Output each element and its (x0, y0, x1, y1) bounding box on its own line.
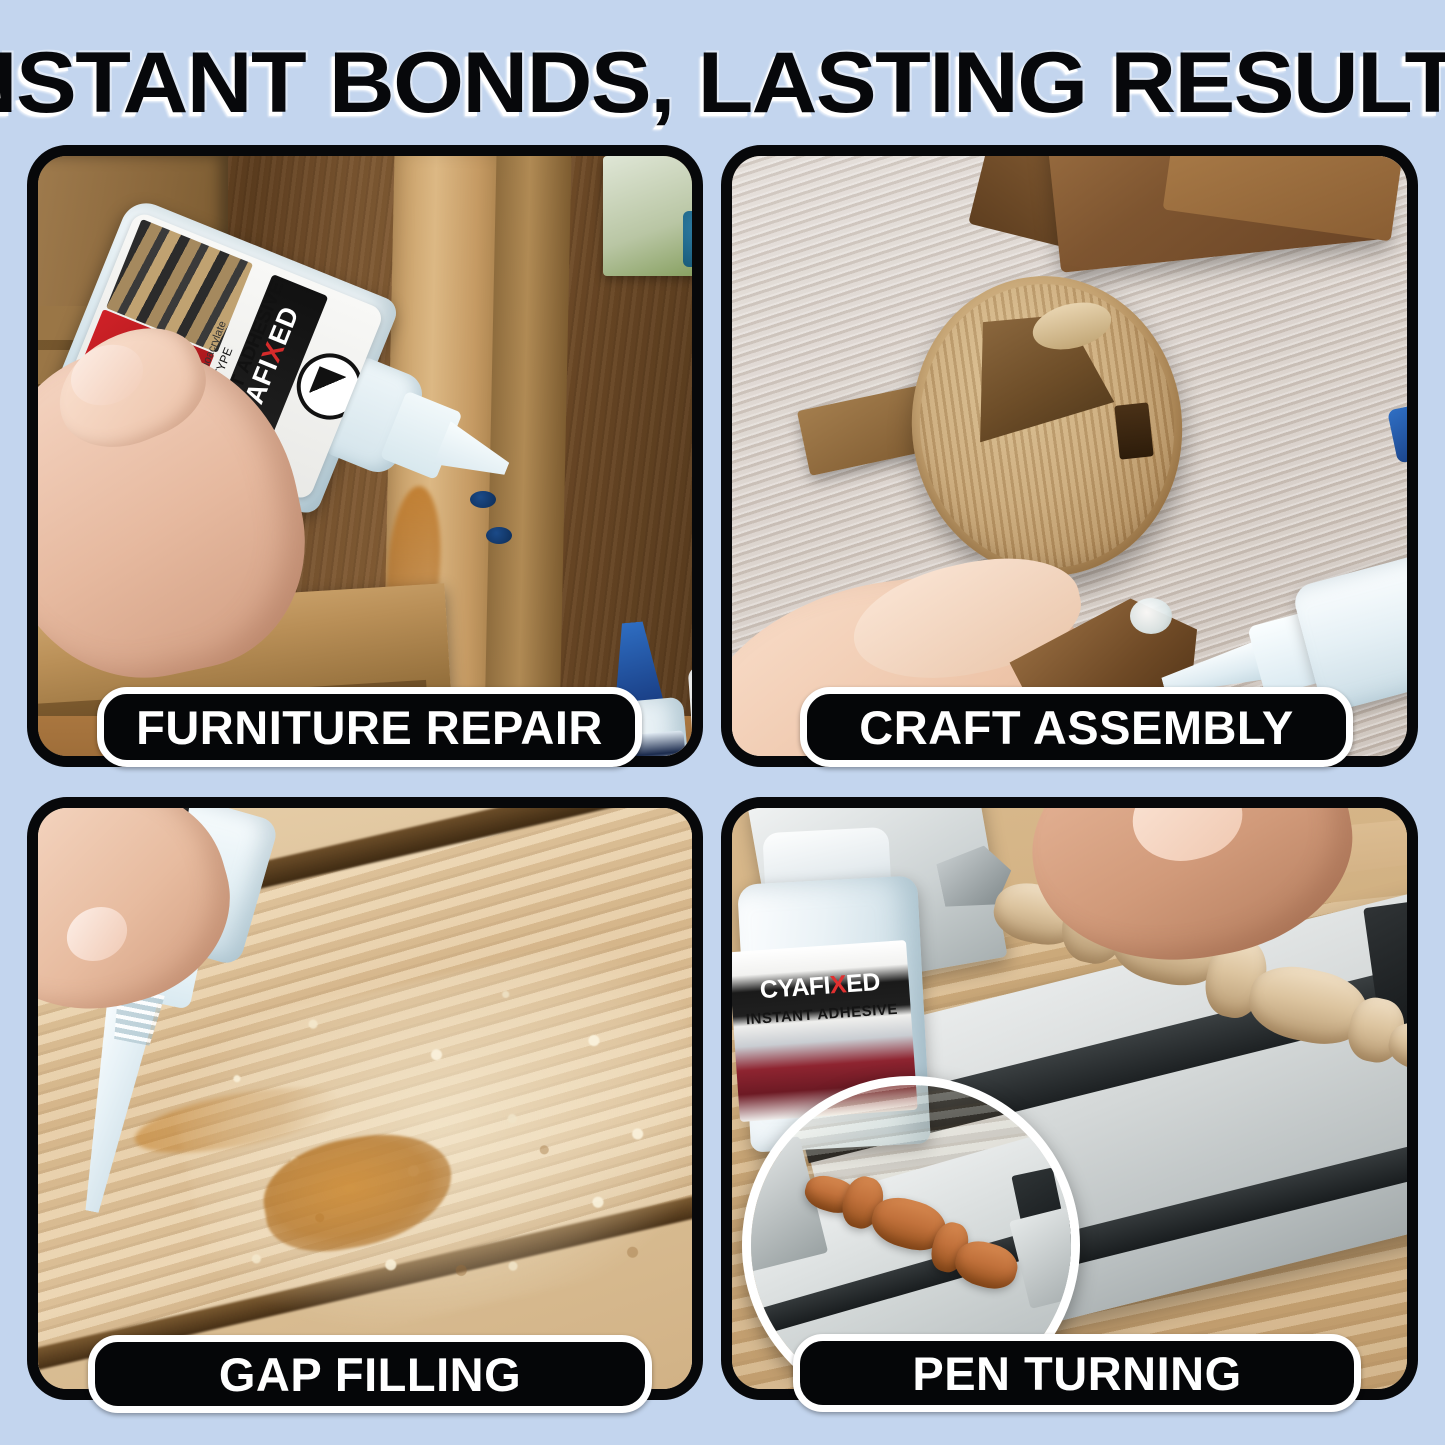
badge-text: CRAFT ASSEMBLY (859, 700, 1293, 755)
badge-text: PEN TURNING (912, 1346, 1241, 1401)
background-blue-cap (683, 211, 692, 267)
label-badge-pen-turning: PEN TURNING (793, 1334, 1361, 1412)
background-box (603, 156, 692, 276)
label-badge-furniture-repair: FURNITURE REPAIR (97, 687, 642, 767)
headline-text: INSTANT BONDS, LASTING RESULTS (0, 37, 1445, 129)
badge-text: GAP FILLING (219, 1347, 521, 1402)
badge-text: FURNITURE REPAIR (136, 700, 603, 755)
photo-furniture-repair: CYAFIXED CYAFIXED THIN (2 CPS) (38, 156, 692, 756)
product-infographic: INSTANT BONDS, LASTING RESULTS CYAFIXED (0, 0, 1445, 1445)
panel-furniture-repair[interactable]: CYAFIXED CYAFIXED THIN (2 CPS) (27, 145, 703, 767)
panel-craft-assembly[interactable] (721, 145, 1418, 767)
label-badge-craft-assembly: CRAFT ASSEMBLY (800, 687, 1353, 767)
photo-gap-filling: CYAFIXED (38, 808, 692, 1389)
mortise-slot (1114, 402, 1153, 459)
photo-craft-assembly (732, 156, 1407, 756)
photo-pen-turning: CYAFIXED INSTANT ADHESIVE (732, 808, 1407, 1389)
panel-pen-turning[interactable]: CYAFIXED INSTANT ADHESIVE (721, 797, 1418, 1400)
label-badge-gap-filling: GAP FILLING (88, 1335, 652, 1413)
page-title: INSTANT BONDS, LASTING RESULTS (0, 33, 1445, 133)
panel-gap-filling[interactable]: CYAFIXED (27, 797, 703, 1400)
